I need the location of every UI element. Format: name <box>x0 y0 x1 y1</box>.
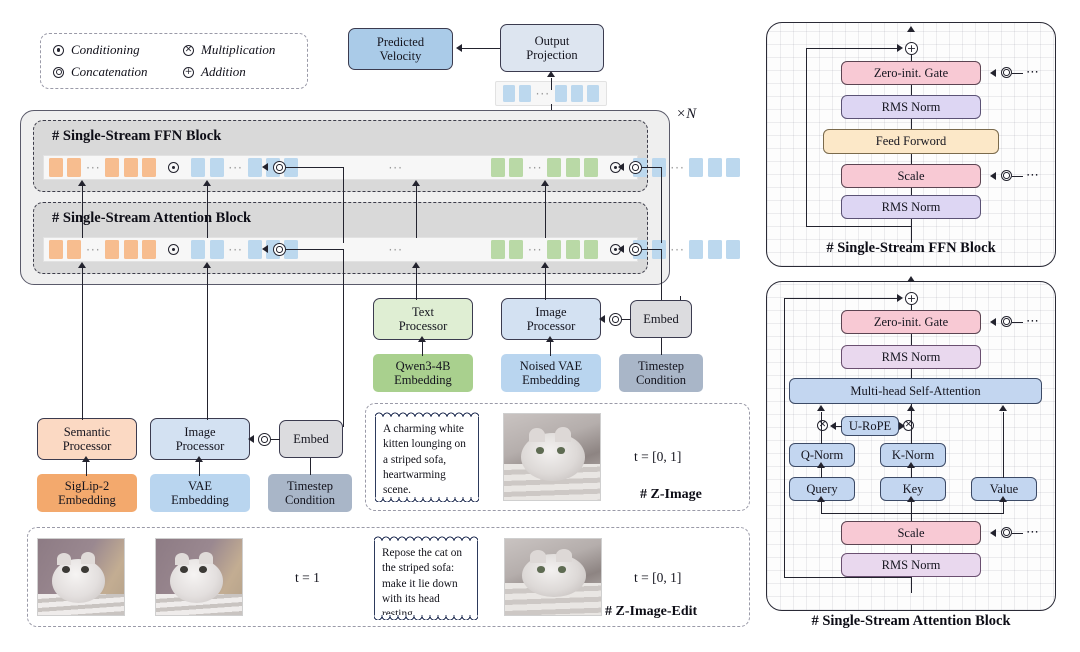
cat-ear-left <box>530 550 546 563</box>
line-fanout-value <box>1003 502 1004 514</box>
token <box>210 158 224 177</box>
line-embed-vert-right <box>661 167 662 243</box>
legend-label-addition: Addition <box>201 64 246 80</box>
arrow-head-ffn-2 <box>203 180 211 186</box>
legend-label-conditioning: Conditioning <box>71 42 140 58</box>
circle-dot-icon <box>53 45 64 56</box>
ffn-scale-cond-ellipsis: ⋯ <box>1026 168 1041 183</box>
legend-item-conditioning: Conditioning <box>53 39 183 61</box>
cat-eye-right <box>81 566 89 573</box>
qwen-embedding-box: Qwen3-4B Embedding <box>373 354 473 392</box>
line-embed-to-attn-left <box>286 249 344 250</box>
arrow-head-attn-left <box>262 245 268 253</box>
line-siglip-to-semantic <box>86 462 87 476</box>
token <box>49 158 63 177</box>
arrow-head-left-imageproc-cond <box>248 435 254 443</box>
attn-gate-cond-arrow <box>990 318 996 326</box>
z-edit-source-photo-1 <box>37 538 125 616</box>
attn-layer-zero-init-gate[interactable]: Zero-init. Gate <box>841 310 981 334</box>
token <box>555 85 567 102</box>
ffn-residual-arrow <box>897 44 903 52</box>
cat-eye-right <box>199 566 207 573</box>
line-noisedvae-to-imageproc <box>550 342 551 356</box>
token <box>191 158 205 177</box>
vae-embedding-box: VAE Embedding <box>150 474 250 512</box>
token <box>491 158 505 177</box>
token <box>191 240 205 259</box>
token <box>124 240 138 259</box>
token <box>503 85 515 102</box>
z-image-t-value: t = [0, 1] <box>634 449 681 465</box>
ffn-residual-vert <box>806 48 807 227</box>
line-attn-to-ffn-3 <box>416 186 417 238</box>
circle-dot-icon <box>168 244 179 255</box>
left-image-processor-box: Image Processor <box>150 418 250 460</box>
token <box>571 85 583 102</box>
mid-embed-box: Embed <box>630 300 692 338</box>
line-fanout-key <box>911 502 912 514</box>
noised-vae-embedding-box: Noised VAE Embedding <box>501 354 601 392</box>
attn-gate-cond-op <box>1001 316 1012 327</box>
cat-ear-right <box>199 552 213 564</box>
arrow-head-projection <box>547 71 555 77</box>
attn-scale-cond-line <box>1012 533 1023 534</box>
legend-item-concatenation: Concatenation <box>53 61 183 83</box>
cat-ear-left <box>57 553 71 565</box>
line-key-to-knorm <box>911 468 912 478</box>
mid-timestep-condition-box: Timestep Condition <box>619 354 703 392</box>
left-embed-box: Embed <box>279 420 343 458</box>
attn-layer-rms-norm-bottom[interactable]: RMS Norm <box>841 553 981 577</box>
line-embed-to-attn-right <box>642 249 662 250</box>
line-attn-to-ffn-2 <box>207 186 208 238</box>
group-ellipsis: ··· <box>388 244 402 256</box>
z-image-tag: # Z-Image <box>640 487 702 503</box>
semantic-processor-box: Semantic Processor <box>37 418 137 460</box>
arrow-head-ffn-3 <box>412 180 420 186</box>
line-embed-to-ffn-left <box>286 167 344 168</box>
line-embed-down-right <box>661 249 662 306</box>
token <box>67 240 81 259</box>
cat-ear-right <box>555 427 571 442</box>
line-fanout-query <box>821 502 822 514</box>
token <box>726 240 740 259</box>
attn-gate-cond-line <box>1012 322 1023 323</box>
arrow-head-ffn-right <box>618 163 624 171</box>
concat-op-mid-embed <box>609 313 622 326</box>
line-tokens-to-projection <box>551 78 552 90</box>
line-query-to-qnorm <box>821 468 822 478</box>
token <box>105 240 119 259</box>
arrow-head-attn-right <box>618 245 624 253</box>
token <box>584 158 598 177</box>
attn-residual-bottom <box>784 577 912 578</box>
attn-output-arrow <box>907 276 915 282</box>
arrow-head-key <box>907 496 915 502</box>
line-vae-to-imageproc <box>199 462 200 476</box>
concat-op-ffn-right <box>629 161 642 174</box>
ffn-residual-bottom <box>806 226 912 227</box>
arrow-head-attn-1 <box>78 262 86 268</box>
circle-ring-icon <box>53 67 64 78</box>
cat-ear-right <box>556 549 572 562</box>
ffn-scale-cond-line <box>1012 176 1023 177</box>
attn-add-op: + <box>905 292 918 305</box>
z-edit-source-photo-2 <box>155 538 243 616</box>
z-edit-t-source: t = 1 <box>295 570 320 586</box>
token <box>509 240 523 259</box>
left-timestep-condition-box: Timestep Condition <box>268 474 352 512</box>
line-scale-fanout <box>821 513 1004 514</box>
concat-op-attn-left <box>273 243 286 256</box>
rope-mul-op-query: ✕ <box>817 420 828 431</box>
token-ellipsis: ··· <box>670 162 684 174</box>
line-semantic-to-attn <box>82 268 83 420</box>
siglip-embedding-box: SigLip-2 Embedding <box>37 474 137 512</box>
line-left-imageproc-to-attn <box>207 268 208 420</box>
rope-line-query <box>835 426 842 427</box>
attn-layer-multihead-self-attention[interactable]: Multi-head Self-Attention <box>789 378 1042 404</box>
ffn-residual-top <box>806 48 898 49</box>
line-attn-to-ffn-1 <box>82 186 83 238</box>
token-ellipsis: ··· <box>528 244 542 256</box>
ffn-layer-rms-norm-bottom[interactable]: RMS Norm <box>841 195 981 219</box>
ffn-scale-cond-op <box>1001 170 1012 181</box>
token <box>248 240 262 259</box>
cat-body <box>170 559 223 603</box>
ffn-gate-cond-op <box>1001 67 1012 78</box>
token-ellipsis: ··· <box>86 244 100 256</box>
line-knorm-to-mhsa <box>911 412 912 444</box>
token <box>248 158 262 177</box>
attn-layer-u-rope[interactable]: U-RoPE <box>841 416 899 436</box>
attn-residual-arrow <box>897 294 903 302</box>
arrow-head-mhsa-k <box>907 405 915 411</box>
arrow-head-mid-imageproc <box>546 336 554 342</box>
z-image-prompt-note: A charming white kitten lounging on a st… <box>375 415 479 499</box>
token <box>105 158 119 177</box>
z-image-edit-tag: # Z-Image-Edit <box>605 604 697 620</box>
predicted-velocity-box: Predicted Velocity <box>348 28 453 70</box>
attention-panel-title: # Single-Stream Attention Block <box>766 613 1056 630</box>
arrow-head-value <box>999 496 1007 502</box>
token <box>49 240 63 259</box>
concat-op-ffn-left <box>273 161 286 174</box>
token <box>547 240 561 259</box>
line-attn-to-ffn-4 <box>545 186 546 238</box>
token-ellipsis: ··· <box>528 162 542 174</box>
cat-eye-left <box>180 566 188 573</box>
legend-item-addition: + Addition <box>183 61 321 83</box>
attn-layer-scale[interactable]: Scale <box>841 521 981 545</box>
line-timestep-to-embed-mid <box>661 338 662 355</box>
line-timestep-to-embed-left <box>310 458 311 475</box>
attn-scale-cond-arrow <box>990 529 996 537</box>
arrow-head-velocity <box>456 44 462 52</box>
diagram-root: Conditioning ✕ Multiplication Concatenat… <box>0 0 1080 652</box>
arrow-head-attn-3 <box>412 262 420 268</box>
legend-label-concatenation: Concatenation <box>71 64 148 80</box>
line-qnorm-to-mhsa <box>821 412 822 444</box>
text-processor-box: Text Processor <box>373 298 473 340</box>
concat-op-attn-right <box>629 243 642 256</box>
legend: Conditioning ✕ Multiplication Concatenat… <box>40 33 308 89</box>
token <box>708 158 722 177</box>
ffn-scale-cond-arrow <box>990 172 996 180</box>
mid-image-processor-box: Image Processor <box>501 298 601 340</box>
ffn-add-op: + <box>905 42 918 55</box>
line-textproc-to-attn <box>416 268 417 300</box>
arrow-head-mhsa-q <box>817 405 825 411</box>
concat-op-left-embed <box>258 433 271 446</box>
token <box>67 158 81 177</box>
token <box>491 240 505 259</box>
ffn-gate-cond-arrow <box>990 69 996 77</box>
cat-eye-right <box>557 447 566 454</box>
arrow-head-query <box>817 496 825 502</box>
token <box>210 240 224 259</box>
line-mid-imageproc-to-attn <box>545 268 546 300</box>
cat-ear-left <box>529 428 545 443</box>
z-edit-prompt-note: Repose the cat on the striped sofa: make… <box>374 539 478 617</box>
arrow-head-ffn-4 <box>541 180 549 186</box>
token <box>689 240 703 259</box>
token-ellipsis: ··· <box>86 162 100 174</box>
line-embed-down-left <box>343 249 344 427</box>
token <box>519 85 531 102</box>
cat-eye-left <box>62 566 70 573</box>
line-embed-to-imageproc-left <box>271 439 280 440</box>
circle-plus-icon: + <box>183 67 194 78</box>
cat-body <box>52 559 105 603</box>
arrow-projection-to-velocity <box>462 48 500 49</box>
circle-times-icon: ✕ <box>183 45 194 56</box>
token <box>142 158 156 177</box>
arrow-head-knorm <box>907 462 915 468</box>
arrow-head-textproc <box>418 336 426 342</box>
token-ellipsis: ··· <box>228 162 242 174</box>
ffn-layer-scale[interactable]: Scale <box>841 164 981 188</box>
ffn-gate-cond-line <box>1012 73 1023 74</box>
token <box>587 85 599 102</box>
line-embed-vert-left <box>343 167 344 243</box>
circle-dot-icon <box>168 162 179 173</box>
ffn-block-title: # Single-Stream FFN Block <box>52 128 221 145</box>
z-edit-result-photo <box>504 538 602 616</box>
cat-eye-left <box>536 447 545 454</box>
attn-scale-cond-ellipsis: ⋯ <box>1026 525 1041 540</box>
arrow-head-ffn-left <box>262 163 268 171</box>
token <box>547 158 561 177</box>
arrow-head-attn-2 <box>203 262 211 268</box>
cat-ear-right <box>81 552 95 564</box>
arrow-head-attn-4 <box>541 262 549 268</box>
ffn-gate-cond-ellipsis: ⋯ <box>1026 65 1041 80</box>
token-ellipsis: ··· <box>536 88 550 100</box>
token-ellipsis: ··· <box>670 244 684 256</box>
arrow-head-qnorm <box>817 462 825 468</box>
line-value-to-mhsa <box>1003 412 1004 478</box>
arrow-head-left-imageproc <box>195 456 203 462</box>
line-embed-to-imageproc-mid <box>622 319 631 320</box>
attn-scale-cond-op <box>1001 527 1012 538</box>
line-embed-to-ffn-right <box>642 167 662 168</box>
token <box>566 240 580 259</box>
token <box>708 240 722 259</box>
ffn-layer-zero-init-gate[interactable]: Zero-init. Gate <box>841 61 981 85</box>
attn-residual-vert <box>784 298 785 578</box>
attn-layer-rms-norm-top[interactable]: RMS Norm <box>841 345 981 369</box>
repeat-count-label: ×N <box>676 106 696 123</box>
ffn-layer-feed-forword[interactable]: Feed Forword <box>823 129 999 154</box>
arrow-head-mhsa-v <box>999 405 1007 411</box>
arrow-head-semantic <box>82 456 90 462</box>
token-ellipsis: ··· <box>228 244 242 256</box>
token <box>124 158 138 177</box>
group-ellipsis: ··· <box>388 162 402 174</box>
z-edit-t-target: t = [0, 1] <box>634 570 681 586</box>
cat-ear-left <box>175 553 189 565</box>
token <box>509 158 523 177</box>
attn-gate-cond-ellipsis: ⋯ <box>1026 314 1041 329</box>
token <box>142 240 156 259</box>
attn-residual-top <box>784 298 898 299</box>
token <box>726 158 740 177</box>
output-projection-box: Output Projection <box>500 24 604 72</box>
legend-item-multiplication: ✕ Multiplication <box>183 39 321 61</box>
legend-label-multiplication: Multiplication <box>201 42 275 58</box>
token <box>566 158 580 177</box>
z-image-generated-photo <box>503 413 601 501</box>
token <box>584 240 598 259</box>
line-qwen-to-textproc <box>422 342 423 356</box>
arrow-head-mid-imageproc-cond <box>599 315 605 323</box>
token <box>689 158 703 177</box>
arrow-head-ffn-1 <box>78 180 86 186</box>
ffn-layer-rms-norm-top[interactable]: RMS Norm <box>841 95 981 119</box>
rope-arrow-to-key <box>899 422 905 430</box>
ffn-output-arrow <box>907 26 915 32</box>
